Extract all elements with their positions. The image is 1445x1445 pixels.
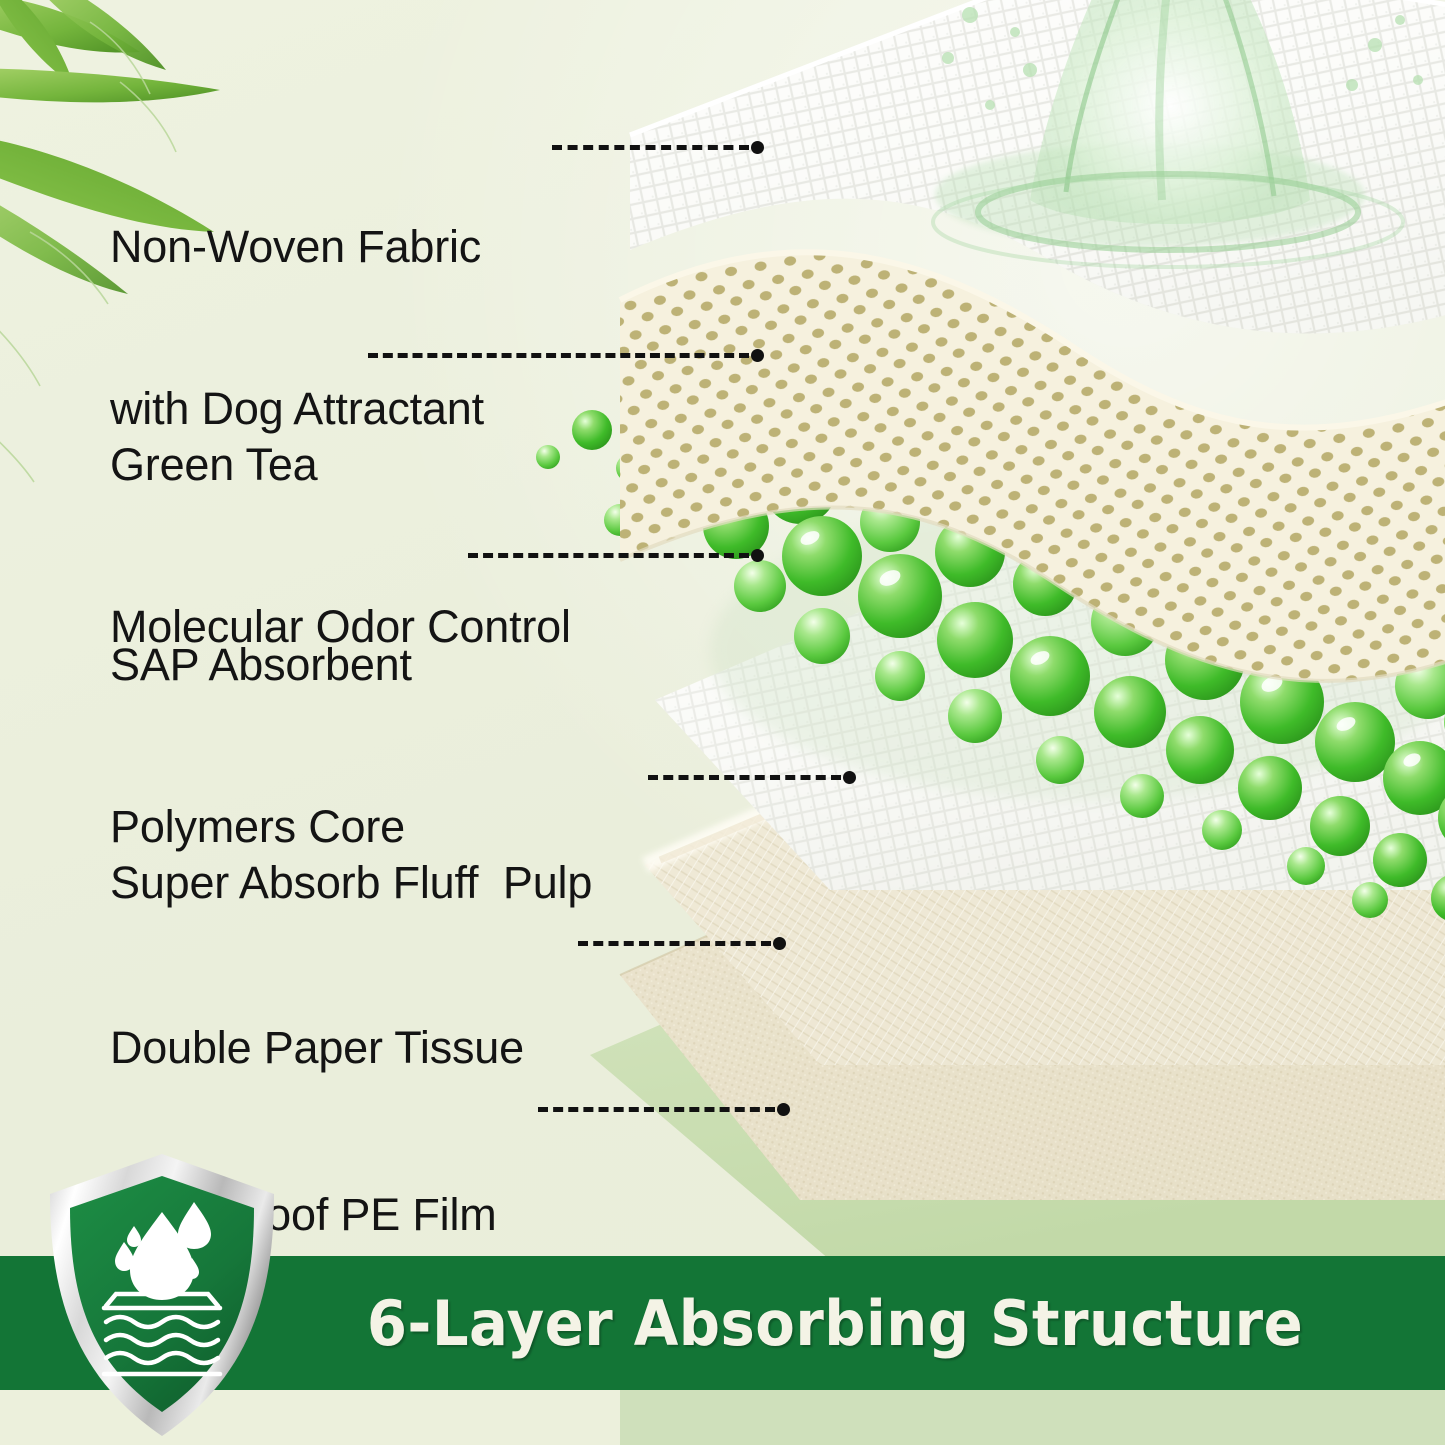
leader-endpoint-dot: [777, 1103, 790, 1116]
label-line-1: Non-Woven Fabric: [110, 220, 484, 274]
label-line-1: SAP Absorbent: [110, 638, 412, 692]
leader-dashes: [468, 553, 749, 558]
leader-green-tea-odor-control: [368, 350, 764, 360]
leader-dashes: [648, 775, 841, 780]
leader-endpoint-dot: [773, 937, 786, 950]
leader-double-paper-tissue: [578, 938, 786, 948]
label-line-1: Double Paper Tissue: [110, 1021, 524, 1075]
product-layer-infographic: Non-Woven Fabric with Dog Attractant Gre…: [0, 0, 1445, 1445]
leader-dashes: [538, 1107, 775, 1112]
leader-dashes: [552, 145, 749, 150]
leader-dashes: [368, 353, 749, 358]
label-line-1: Green Tea: [110, 438, 571, 492]
label-line-1: Super Absorb Fluff Pulp: [110, 856, 592, 910]
leader-endpoint-dot: [751, 349, 764, 362]
leader-endpoint-dot: [843, 771, 856, 784]
shield-waterdrop-waves-icon: [42, 1150, 282, 1440]
leader-non-woven-fabric: [552, 142, 764, 152]
leader-endpoint-dot: [751, 549, 764, 562]
leader-endpoint-dot: [751, 141, 764, 154]
leader-leak-proof-pe-film: [538, 1104, 790, 1114]
leader-dashes: [578, 941, 771, 946]
leader-sap-absorbent-core: [468, 550, 764, 560]
banner-title: 6-Layer Absorbing Structure: [365, 1256, 1304, 1390]
layer-stack-artwork: [470, 0, 1445, 1290]
leader-super-absorb-fluff-pulp: [648, 772, 856, 782]
